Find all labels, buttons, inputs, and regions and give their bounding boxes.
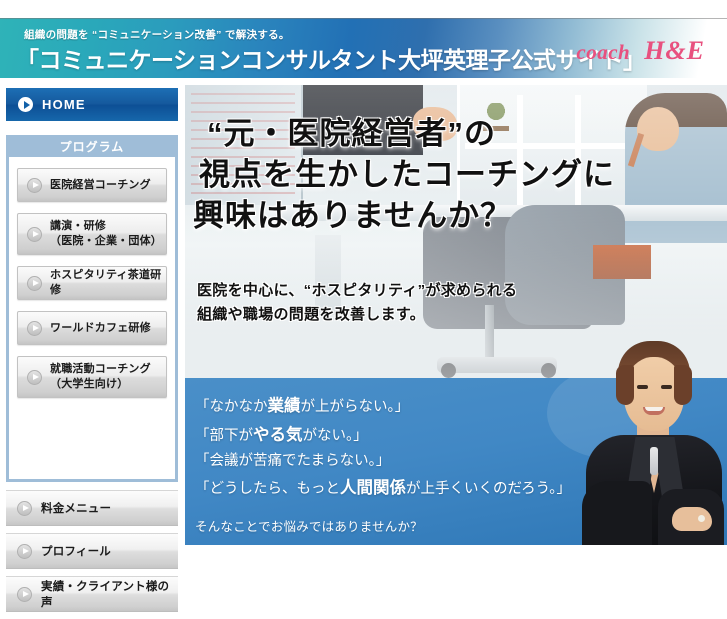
quote-list: 「なかなか業績が上がらない。」 「部下がやる気がない。」 「会議が苦痛でたまらな… — [195, 392, 571, 538]
hero-subline: 医院を中心に、“ホスピタリティ”が求められる 組織や職場の問題を改善します。 — [197, 279, 517, 328]
sidebar-item-label: 就職活動コーチング （大学生向け） — [50, 362, 151, 392]
quote-2-highlight: やる気 — [253, 426, 303, 444]
play-arrow-icon — [18, 97, 33, 112]
sidebar: HOME プログラム 医院経営コーチング 講演・研修 （医院・企業・団体） ホス… — [0, 88, 178, 545]
consultant-portrait-photo — [580, 331, 727, 545]
play-arrow-icon — [27, 276, 42, 291]
sidebar-item-label: 医院経営コーチング — [50, 178, 151, 193]
quote-1-highlight: 業績 — [268, 397, 301, 415]
program-section-header: プログラム — [6, 135, 178, 157]
hero-headline-line-2: 視点を生かしたコーチングに — [193, 154, 615, 195]
sidebar-item-home[interactable]: HOME — [6, 88, 178, 121]
hero-subline-line-2: 組織や職場の問題を改善します。 — [197, 303, 517, 327]
quote-item-2: 「部下がやる気がない。」 — [195, 421, 571, 450]
quote-4-pre: 「どうしたら、もっと — [195, 481, 340, 497]
sidebar-item-hospitality-tea[interactable]: ホスピタリティ茶道研修 — [17, 266, 167, 300]
quote-2-post: がない。」 — [303, 428, 368, 444]
quote-4-post: が上手くいくのだろう。」 — [406, 481, 571, 497]
quote-2-pre: 「部下が — [195, 428, 253, 444]
quote-1-pre: 「なかなか — [195, 399, 268, 415]
logo-coach-text: coach — [576, 40, 630, 65]
sidebar-item-clinic-coaching[interactable]: 医院経営コーチング — [17, 168, 167, 202]
sidebar-item-label: 講演・研修 （医院・企業・団体） — [50, 219, 162, 249]
program-menu-list: 医院経営コーチング 講演・研修 （医院・企業・団体） ホスピタリティ茶道研修 ワ… — [9, 157, 175, 419]
sidebar-item-label: プロフィール — [41, 543, 111, 559]
hero-headline: “元・医院経営者”の 視点を生かしたコーチングに 興味はありませんか？ — [193, 113, 615, 237]
quote-4-highlight: 人間関係 — [340, 479, 406, 497]
hero-subline-line-1: 医院を中心に、“ホスピタリティ”が求められる — [197, 279, 517, 303]
sidebar-item-label: ホスピタリティ茶道研修 — [50, 268, 166, 298]
quote-1-post: が上がらない。」 — [301, 399, 410, 415]
main-content: “元・医院経営者”の 視点を生かしたコーチングに 興味はありませんか？ 医院を中… — [185, 85, 727, 545]
header-tagline: 組織の問題を “コミュニケーション改善” で解決する。 — [24, 27, 290, 42]
hero-headline-line-3: 興味はありませんか？ — [193, 195, 615, 236]
sidebar-item-label: 料金メニュー — [41, 500, 111, 516]
quote-item-4: 「どうしたら、もっと人間関係が上手くいくのだろう。」 — [195, 474, 571, 503]
sidebar-item-job-hunting-coaching[interactable]: 就職活動コーチング （大学生向け） — [17, 356, 167, 398]
quote-item-3: 「会議が苦痛でたまらない。」 — [195, 449, 571, 474]
play-arrow-icon — [17, 544, 32, 559]
play-arrow-icon — [17, 501, 32, 516]
play-arrow-icon — [27, 321, 42, 336]
sidebar-item-lecture-training[interactable]: 講演・研修 （医院・企業・団体） — [17, 213, 167, 255]
site-logo[interactable]: coach H&E — [576, 36, 705, 66]
sidebar-item-label: 実績・クライアント様の声 — [41, 578, 178, 610]
play-arrow-icon — [27, 370, 42, 385]
logo-he-text: H&E — [644, 36, 705, 66]
quote-item-1: 「なかなか業績が上がらない。」 — [195, 392, 571, 421]
site-header: 組織の問題を “コミュニケーション改善” で解決する。 「コミュニケーションコン… — [0, 0, 727, 82]
play-arrow-icon — [27, 227, 42, 242]
site-title: 「コミュニケーションコンサルタント大坪英理子公式サイト」 — [16, 41, 646, 75]
play-arrow-icon — [27, 178, 42, 193]
sidebar-item-profile[interactable]: プロフィール — [6, 533, 178, 569]
sidebar-item-world-cafe[interactable]: ワールドカフェ研修 — [17, 311, 167, 345]
quote-closing-question: そんなことでお悩みではありませんか？ — [195, 517, 571, 539]
hero-headline-line-1: “元・医院経営者”の — [193, 113, 615, 154]
sidebar-item-label: ワールドカフェ研修 — [50, 321, 151, 336]
sidebar-item-results-testimonials[interactable]: 実績・クライアント様の声 — [6, 576, 178, 612]
sidebar-item-home-label: HOME — [42, 97, 86, 112]
play-arrow-icon — [17, 587, 32, 602]
sidebar-item-price-menu[interactable]: 料金メニュー — [6, 490, 178, 526]
sidebar-lower-menu: 料金メニュー プロフィール 実績・クライアント様の声 — [6, 490, 178, 619]
